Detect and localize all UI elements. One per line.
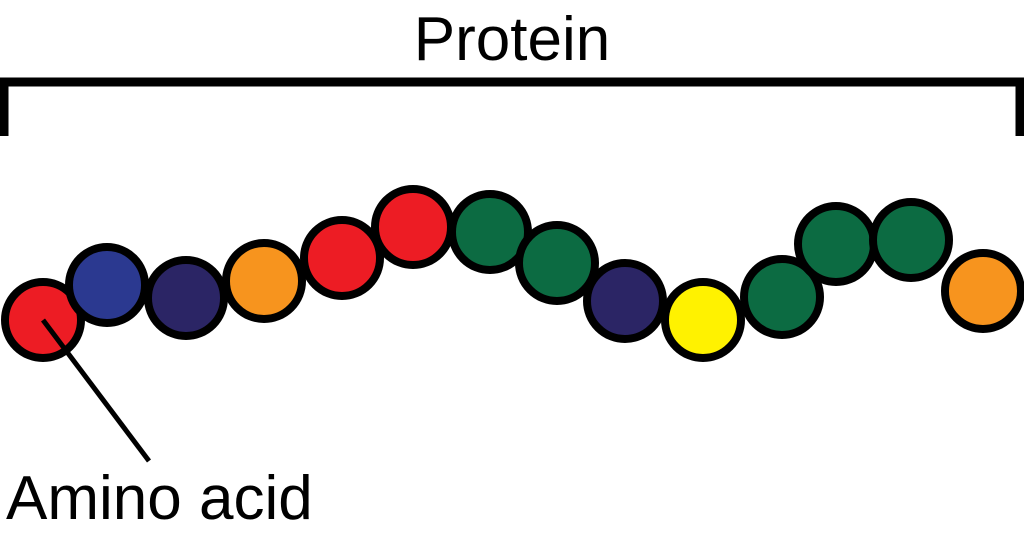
amino-acid-residue bbox=[148, 260, 224, 336]
amino-acid-residue bbox=[945, 253, 1021, 329]
protein-chain-diagram: Protein Amino acid bbox=[0, 0, 1024, 539]
amino-acid-residue bbox=[226, 243, 302, 319]
amino-acid-residue bbox=[587, 263, 663, 339]
amino-acid-chain bbox=[5, 189, 1021, 358]
amino-acid-leader-line bbox=[43, 320, 149, 461]
amino-acid-residue bbox=[519, 225, 595, 301]
diagram-canvas: Protein Amino acid bbox=[0, 0, 1024, 539]
amino-acid-residue bbox=[873, 202, 949, 278]
amino-acid-residue bbox=[375, 189, 451, 265]
protein-title-label: Protein bbox=[414, 5, 610, 74]
amino-acid-residue bbox=[304, 220, 380, 296]
amino-acid-residue bbox=[69, 247, 145, 323]
protein-span-bracket bbox=[4, 82, 1020, 136]
amino-acid-residue bbox=[665, 282, 741, 358]
amino-acid-callout-label: Amino acid bbox=[6, 464, 313, 533]
amino-acid-residue bbox=[798, 206, 874, 282]
